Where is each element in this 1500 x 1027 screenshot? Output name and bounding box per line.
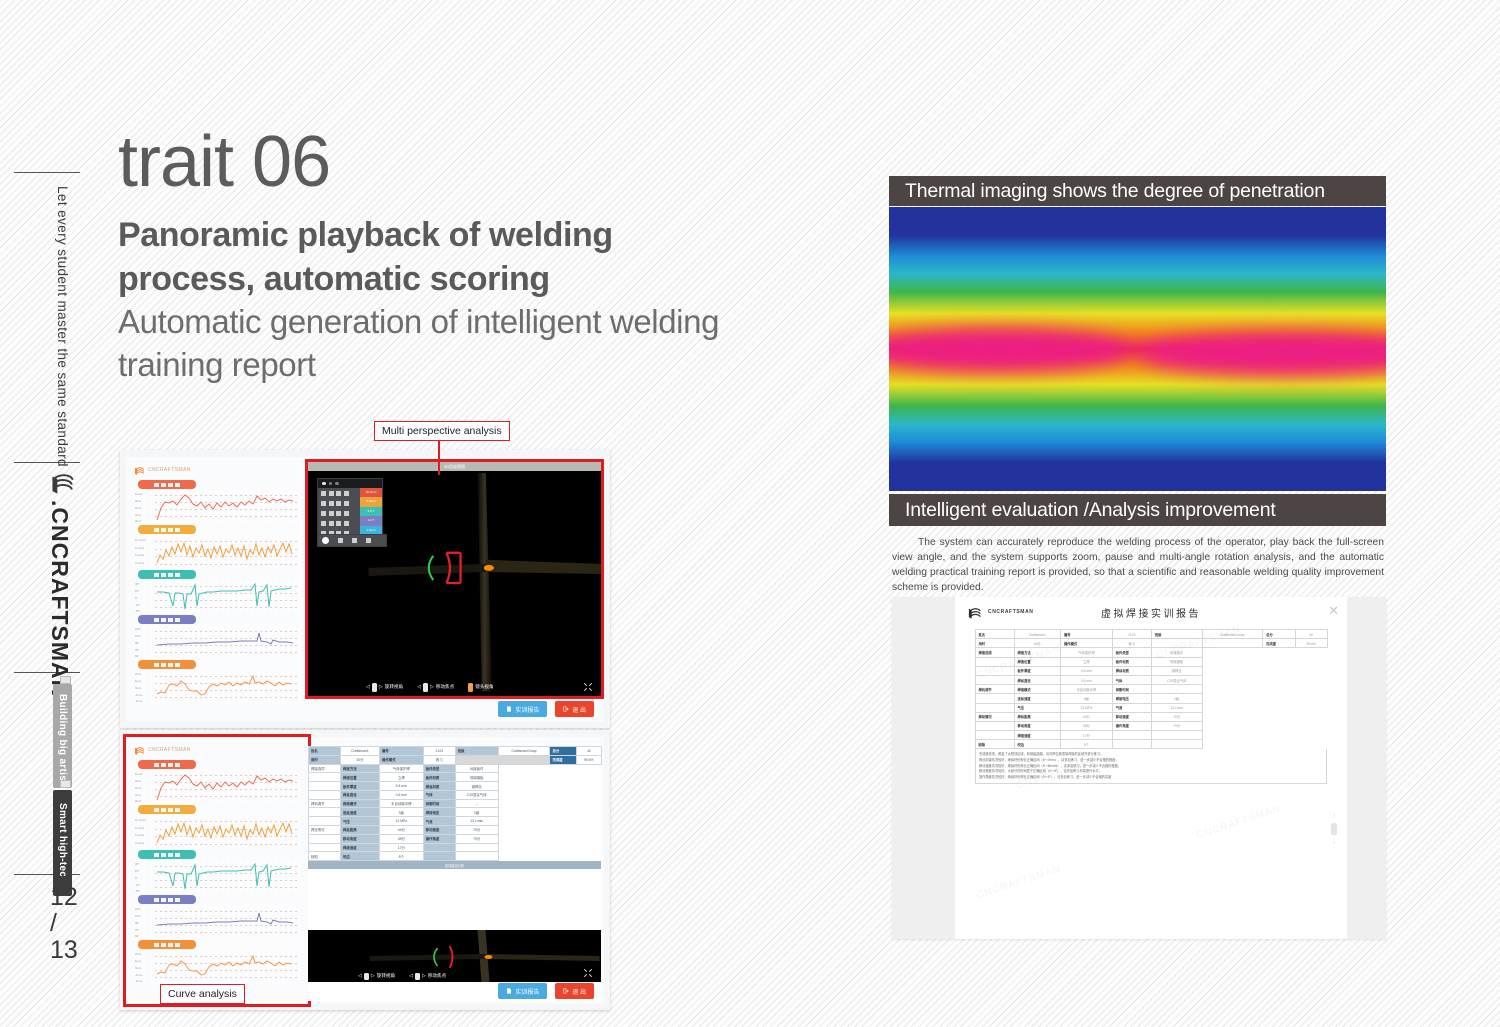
table-section (309, 808, 341, 817)
table-value: Craftsman1 (341, 747, 380, 756)
document-scrollbar[interactable]: ↑ ↓ (1329, 812, 1339, 846)
table-row: 焊接位置立焊板件材质低碳钢板 (309, 773, 602, 782)
table-key: 板件类型 (423, 764, 455, 773)
table-row: 焊机调节焊接模式半自动脉冲焊间断时间-- (309, 799, 602, 808)
table-section (309, 843, 341, 852)
table-value: 8个 (379, 852, 423, 861)
table-key: 操作模式 (379, 755, 423, 764)
table-key (1112, 740, 1151, 749)
curve-column-highlighted[interactable]: CNCRAFTSMAN 12mm9mm 6mm3mm 0mm 12 mm/s9 … (126, 737, 308, 1004)
exit-icon (563, 988, 569, 994)
advice-line: 操作角度情况较好，继续好份焊丝正确区间（0〜5°），请多加练习，进一步减少不合格… (979, 775, 1323, 781)
app-wordmark: CNCRAFTSMAN (148, 747, 191, 753)
close-icon[interactable]: ✕ (1328, 603, 1339, 619)
chart-welding-height: 12mm9mm 6mm3mm 0mm (134, 770, 300, 803)
table-row: 焊机调节焊接模式半自动脉冲焊间断时间-- (975, 685, 1327, 694)
table-row: 焊接选项焊接方法气体保护焊板件类型对接板件 (309, 764, 602, 773)
callout-multi-perspective: Multi perspective analysis (374, 421, 510, 441)
table-row: 送丝速度9级焊接电压2级 (309, 808, 602, 817)
table-section (309, 790, 341, 799)
table-key: 板件厚度 (1014, 666, 1060, 675)
move-focus-button[interactable]: ◁▷ 移动焦点 (409, 973, 446, 980)
table-value: 99.6% (1295, 639, 1327, 648)
table-value: 立焊 (379, 773, 423, 782)
table-key: 焊接电压 (1112, 694, 1151, 703)
chart-welding-deviation: 2mm1mm 0mm-1mm -2mm (134, 950, 300, 983)
table-row: 焊接位置立焊板件材质低碳钢板 (975, 657, 1327, 666)
table-key: 送丝速度 (1014, 694, 1060, 703)
table-key: 总分 (1263, 630, 1296, 639)
table-key: 移动速度 (423, 826, 455, 835)
table-key: 操作角度 (1112, 721, 1151, 730)
thermal-hotspot (1139, 333, 1386, 375)
table-key: 气流 (1112, 703, 1151, 712)
table-key: 姓名 (975, 630, 1014, 639)
table-value: 13 L/min (1151, 703, 1202, 712)
table-key: 完成度 (550, 755, 576, 764)
table-key: 总分 (550, 747, 576, 756)
rotate-view-button[interactable]: ◁▷ 旋转视角 (358, 973, 395, 980)
table-key: 气压 (341, 817, 380, 826)
table-section (975, 694, 1014, 703)
table-row: 焊接速度17分 (975, 731, 1327, 740)
table-key: 送丝速度 (341, 808, 380, 817)
table-section (309, 817, 341, 826)
table-row: 焊丝直径0.6 mm气体C25混合气体 (975, 675, 1327, 684)
chart-work-angle: 120°105° 90°75° 60° (134, 625, 300, 658)
table-key: 班级 (1151, 630, 1202, 639)
badge-building-big-artisans: Building big artisans (53, 684, 72, 788)
table-value: 44分 (1061, 712, 1113, 721)
table-value: 9级 (1061, 694, 1113, 703)
move-focus-button[interactable]: ◁▷ 移动焦点 (417, 683, 454, 692)
table-key: 焊接位置 (1014, 657, 1060, 666)
table-row: 送丝速度9级焊接电压2级 (975, 694, 1327, 703)
table-section (975, 675, 1014, 684)
thermal-hotspot (889, 329, 1129, 371)
cncraftsman-logo-icon (134, 465, 145, 476)
table-value: 立焊 (1061, 657, 1113, 666)
training-report-button[interactable]: 实训报告 (498, 701, 547, 717)
table-value: 17分 (1061, 731, 1113, 740)
table-value: 铜焊丝 (455, 782, 498, 791)
table-value (1151, 740, 1202, 749)
table-value: 气体保护焊 (1061, 648, 1113, 657)
table-row: 板件厚度0.8 mm焊丝材质铜焊丝 (975, 666, 1327, 675)
table-key: 移动角度 (341, 834, 380, 843)
rotate-view-button[interactable]: ◁▷ 旋转视角 (366, 683, 403, 692)
table-value: C25混合气体 (1151, 675, 1202, 684)
table-key: 板件材质 (423, 773, 455, 782)
table-value: 9级 (379, 808, 423, 817)
table-value: -- (455, 799, 498, 808)
table-value: 2级 (1151, 694, 1202, 703)
table-value: 练习 (423, 755, 455, 764)
table-value: 44分 (379, 826, 423, 835)
table-key: 编号 (1061, 630, 1113, 639)
fullscreen-icon[interactable] (583, 682, 593, 692)
table-value: 气体保护焊 (379, 764, 423, 773)
table-section (975, 721, 1014, 730)
table-row: 板件厚度0.8 mm焊丝材质铜焊丝 (309, 782, 602, 791)
cncraftsman-logo-icon (50, 470, 76, 496)
table-value: 0.8 mm (1061, 666, 1113, 675)
app-logo: CNCRAFTSMAN (134, 463, 302, 477)
table-row: 焊接选项焊接方法气体保护焊板件类型对接板件 (975, 648, 1327, 657)
table-value: CraftsmanGroup (1202, 630, 1263, 639)
table-value: 40 (1295, 630, 1327, 639)
exit-button[interactable]: 退 出 (555, 701, 594, 717)
table-value: Craftsman1 (1014, 630, 1060, 639)
curve-column: CNCRAFTSMAN 12mm9mm 6mm3mm 0mm 12 mm/s9 … (126, 457, 308, 722)
table-row: 气压13 MPa气流13 L/min (309, 817, 602, 826)
table-key: 用时 (975, 639, 1014, 648)
playback-viewport[interactable]: 3D回放视图 (308, 462, 601, 696)
table-value: 对接板件 (1151, 648, 1202, 657)
headline-light: Automatic generation of intelligent weld… (118, 301, 738, 385)
app-wordmark: CNCRAFTSMAN (148, 467, 191, 473)
training-report-button[interactable]: 实训报告 (498, 983, 547, 999)
table-key: 移动角度 (1014, 721, 1060, 730)
table-section (975, 703, 1014, 712)
table-key: 焊丝直径 (1014, 675, 1060, 684)
callout-curve-analysis: Curve analysis (160, 984, 245, 1004)
screenshot1-actions[interactable]: 实训报告 退 出 (498, 701, 594, 717)
table-key: 完成度 (1263, 639, 1296, 648)
table-key (423, 852, 455, 861)
screenshot-panel-playback: CNCRAFTSMAN 12mm9mm 6mm3mm 0mm 12 mm/s9 … (120, 450, 610, 728)
table-value: 13 L/min (455, 817, 498, 826)
scroll-down-icon: ↓ (1329, 837, 1339, 846)
chart-welding-speed: 12 mm/s9 mm/s 6 mm/s3 mm/s (134, 815, 300, 848)
table-value (455, 852, 498, 861)
table-value (1151, 731, 1202, 740)
table-section (975, 657, 1014, 666)
table-section: 焊机调节 (309, 799, 341, 808)
table-row: 用时30分操作模式练习完成度99.6% (309, 755, 602, 764)
table-value: 2123 (1112, 630, 1151, 639)
cncraftsman-logo-icon (134, 745, 145, 756)
table-section (309, 773, 341, 782)
table-key: 操作角度 (423, 834, 455, 843)
table-row: 焊丝情况焊丝距离44分移动速度76分 (975, 712, 1327, 721)
lens-view-button[interactable]: 镜头视角 (468, 683, 493, 692)
table-value: 38分 (1061, 721, 1113, 730)
table-key: 用时 (309, 755, 341, 764)
section-header-evaluation: Intelligent evaluation /Analysis improve… (889, 494, 1386, 526)
table-section: 缺陷 (975, 740, 1014, 749)
table-section (309, 782, 341, 791)
table-key: 操作模式 (1061, 639, 1113, 648)
table-key: 气压 (1014, 703, 1060, 712)
table-section: 焊接选项 (309, 764, 341, 773)
table-value: 99.6% (576, 755, 601, 764)
table-key: 焊丝距离 (1014, 712, 1060, 721)
left-rail: Let every student master the same standa… (0, 0, 96, 1027)
table-key: 咬边 (1014, 740, 1060, 749)
table-value: 半自动脉冲焊 (379, 799, 423, 808)
table-row: 姓名Craftsman1编号2123班级CraftsmanGroup总分40 (975, 630, 1327, 639)
table-row: 移动角度38分操作角度79分 (309, 834, 602, 843)
table-value: 30分 (1014, 639, 1060, 648)
app-logo: CNCRAFTSMAN (134, 743, 302, 757)
scroll-up-icon: ↑ (1329, 812, 1339, 821)
table-section: 缺陷 (309, 852, 341, 861)
welding-scene (308, 462, 601, 696)
table-section (309, 834, 341, 843)
headline-block: trait 06 Panoramic playback of welding p… (118, 128, 738, 386)
chart-travel-angle: 30°15° 0°-15° -30° (134, 860, 300, 893)
table-key: 班级 (455, 747, 498, 756)
table-key: 气流 (423, 817, 455, 826)
table-value (455, 843, 498, 852)
report-toolbar[interactable]: ◁▷ 旋转视角 ◁▷ 移动焦点 (308, 970, 601, 982)
table-row: 缺陷咬边8个 (975, 740, 1327, 749)
table-section: 焊接选项 (975, 648, 1014, 657)
table-row: 用时30分操作模式练习完成度99.6% (975, 639, 1327, 648)
table-value: 低碳钢板 (455, 773, 498, 782)
table-section (975, 666, 1014, 675)
document-icon (506, 706, 512, 712)
table-value: 40 (576, 747, 601, 756)
table-value: 79分 (1151, 721, 1202, 730)
table-row: 焊丝情况焊丝距离44分移动速度76分 (309, 826, 602, 835)
virtual-welding-report-document[interactable]: CNCRAFTSMAN CNCRAFTSMAN CNCRAFTSMAN CNCR… (892, 597, 1386, 939)
table-key: 板件材质 (1112, 657, 1151, 666)
rail-tagline: Let every student master the same standa… (55, 186, 70, 467)
screenshot-panel-report: CNCRAFTSMAN 12mm9mm 6mm3mm 0mm 12 mm/s9 … (120, 730, 610, 1010)
table-row: 焊丝直径0.6 mm气体C25混合气体 (309, 790, 602, 799)
table-key (1112, 731, 1151, 740)
table-key: 焊接模式 (1014, 685, 1060, 694)
table-section (975, 731, 1014, 740)
table-value: 0.8 mm (379, 782, 423, 791)
chart-welding-deviation: 2mm1mm 0mm-1mm -2mm (134, 670, 300, 703)
table-section: 焊丝情况 (309, 826, 341, 835)
brochure-page: Let every student master the same standa… (0, 0, 1500, 1027)
table-key: 焊丝材质 (423, 782, 455, 791)
table-key: 板件类型 (1112, 648, 1151, 657)
table-value: 76分 (455, 826, 498, 835)
table-value: CraftsmanGroup (498, 747, 550, 756)
table-row: 移动角度38分操作角度79分 (975, 721, 1327, 730)
table-value: 17分 (379, 843, 423, 852)
table-value: 0.6 mm (379, 790, 423, 799)
table-key: 间断时间 (423, 799, 455, 808)
table-value: 低碳钢板 (1151, 657, 1202, 666)
document-title: 虚拟焊接实训报告 (955, 605, 1347, 620)
table-key: 编号 (379, 747, 423, 756)
table-value: 练习 (1112, 639, 1151, 648)
fullscreen-icon[interactable] (583, 968, 593, 978)
table-key: 焊接方法 (1014, 648, 1060, 657)
table-value: 半自动脉冲焊 (1061, 685, 1113, 694)
table-key: 焊丝距离 (341, 826, 380, 835)
table-key: 气体 (1112, 675, 1151, 684)
chart-travel-angle: 30°15° 0°-15° -30° (134, 580, 300, 613)
table-row: 气压13 MPa气流13 L/min (975, 703, 1327, 712)
table-value: 2123 (423, 747, 455, 756)
viewport-toolbar[interactable]: ◁▷ 旋转视角 ◁▷ 移动焦点 镜头视角 (308, 678, 601, 696)
table-value: 0.6 mm (1061, 675, 1113, 684)
page-number: 12/13 (50, 884, 78, 963)
headline-bold: Panoramic playback of welding process, a… (118, 214, 738, 301)
table-key: 焊丝材质 (1112, 666, 1151, 675)
description-paragraph: The system can accurately reproduce the … (892, 536, 1384, 596)
table-key: 姓名 (309, 747, 341, 756)
table-value: 对接板件 (455, 764, 498, 773)
table-key: 焊丝直径 (341, 790, 380, 799)
table-row: 姓名Craftsman1编号2123班级CraftsmanGroup总分40 (309, 747, 602, 756)
table-key: 间断时间 (1112, 685, 1151, 694)
table-key: 板件厚度 (341, 782, 380, 791)
exit-icon (563, 706, 569, 712)
table-value: 38分 (379, 834, 423, 843)
table-value: 76分 (1151, 712, 1202, 721)
page-title: trait 06 (118, 128, 738, 196)
table-value: 13 MPa (379, 817, 423, 826)
table-value: 30分 (341, 755, 380, 764)
thermal-imaging-image (889, 207, 1386, 491)
table-key: 焊接速度 (1014, 731, 1060, 740)
table-key: 气体 (423, 790, 455, 799)
table-value: -- (1151, 685, 1202, 694)
table-key: 焊接电压 (423, 808, 455, 817)
rail-brand: .CNCRAFTSMAN (46, 500, 73, 697)
table-key: 焊接方法 (341, 764, 380, 773)
table-section: 焊机调节 (975, 685, 1014, 694)
table-value: 铜焊丝 (1151, 666, 1202, 675)
table-value: 79分 (455, 834, 498, 843)
table-value: 8个 (1061, 740, 1113, 749)
chart-welding-height: 12mm9mm 6mm3mm 0mm (134, 490, 300, 523)
table-key: 焊接模式 (341, 799, 380, 808)
table-key: 咬边 (341, 852, 380, 861)
document-icon (506, 988, 512, 994)
chart-work-angle: 120°105° 90°75° 60° (134, 905, 300, 938)
screenshot2-actions[interactable]: 实训报告 退 出 (498, 983, 594, 999)
table-key: 移动速度 (1112, 712, 1151, 721)
table-key (423, 843, 455, 852)
table-section: 焊丝情况 (975, 712, 1014, 721)
table-key: 焊接速度 (341, 843, 380, 852)
table-row: 焊接速度17分 (309, 843, 602, 852)
chart-welding-speed: 12 mm/s9 mm/s 6 mm/s3 mm/s (134, 535, 300, 568)
table-footer: 实训建议分析 (308, 861, 601, 869)
table-row: 缺陷咬边8个 (309, 852, 602, 861)
table-value: 13 MPa (1061, 703, 1113, 712)
section-header-thermal: Thermal imaging shows the degree of pene… (889, 176, 1386, 206)
table-key: 焊接位置 (341, 773, 380, 782)
scroll-thumb (1331, 823, 1337, 835)
table-value: 2级 (455, 808, 498, 817)
table-value: C25混合气体 (455, 790, 498, 799)
exit-button[interactable]: 退 出 (555, 983, 594, 999)
